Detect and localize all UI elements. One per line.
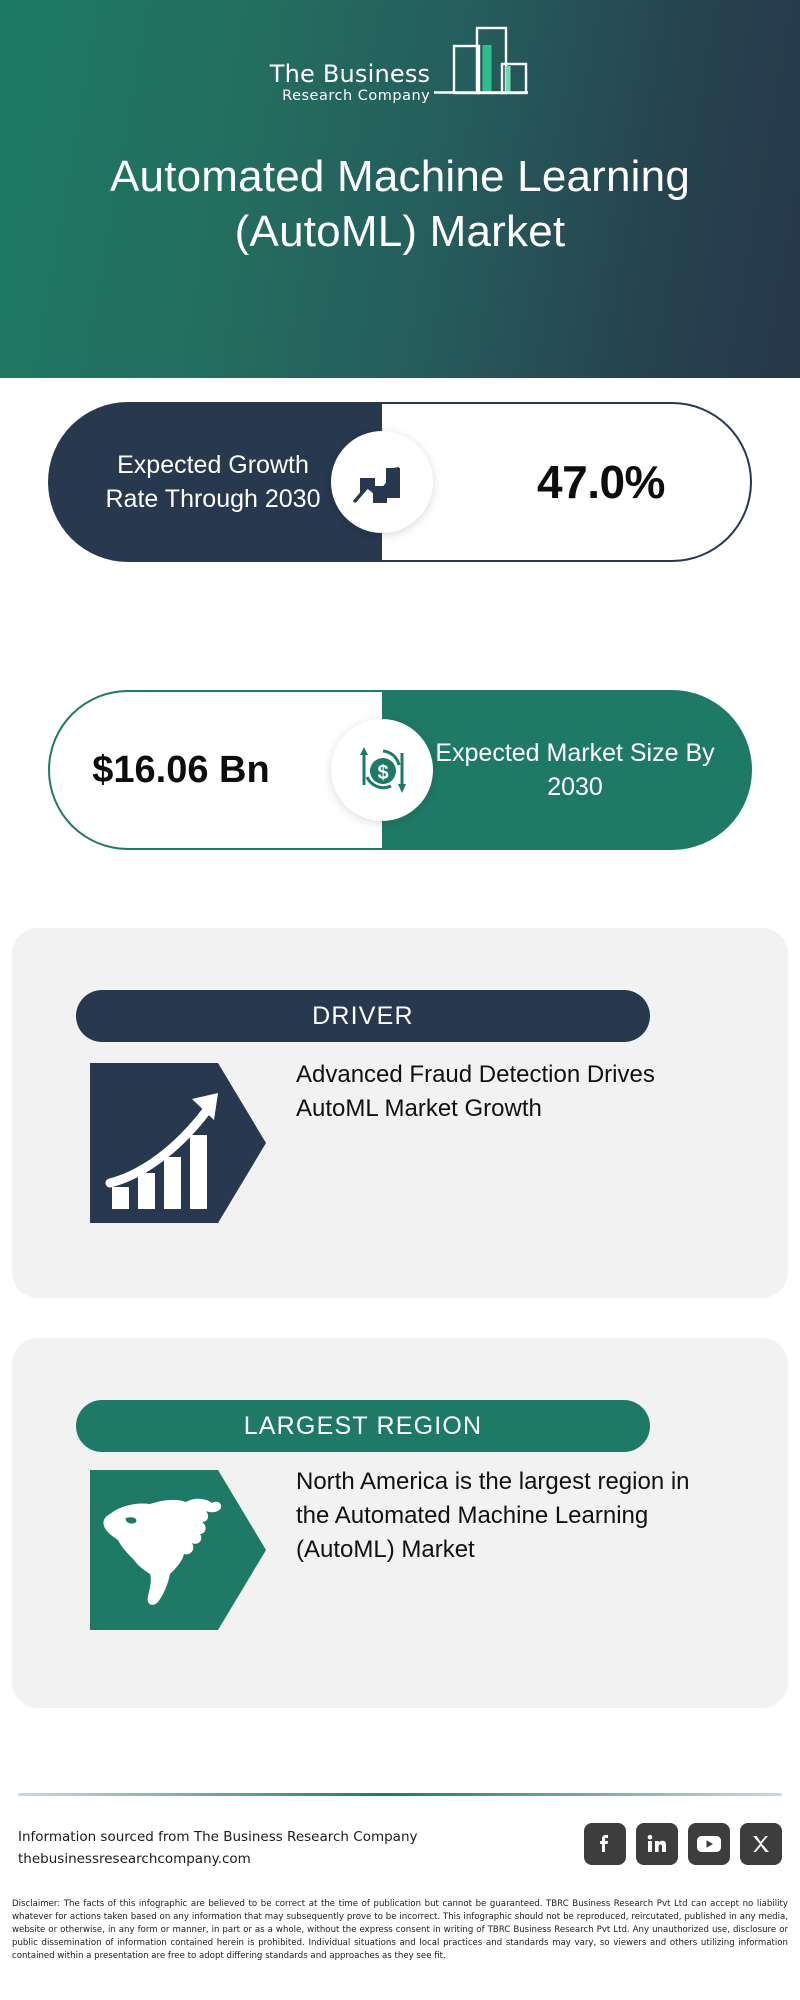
region-pill-label: LARGEST REGION <box>244 1412 483 1441</box>
footer-divider <box>18 1793 782 1796</box>
logo-text: The Business Research Company <box>270 62 431 108</box>
driver-pill-label: DRIVER <box>312 1002 414 1031</box>
x-twitter-icon[interactable] <box>740 1823 782 1865</box>
social-links <box>584 1823 782 1865</box>
stat-card-growth-rate: Expected Growth Rate Through 2030 47.0% <box>48 402 752 562</box>
north-america-map-icon <box>90 1470 266 1630</box>
stat-value-box: 47.0% <box>382 402 752 562</box>
rising-bar-chart-arrow-icon <box>90 1063 266 1223</box>
driver-text: Advanced Fraud Detection Drives AutoML M… <box>296 1058 696 1126</box>
stat-value: 47.0% <box>537 455 665 509</box>
dollar-refresh-icon: $ <box>331 719 433 821</box>
footer-source-url[interactable]: thebusinessresearchcompany.com <box>18 1848 488 1870</box>
page-title: Automated Machine Learning (AutoML) Mark… <box>0 150 800 259</box>
stat-label-box: Expected Market Size By 2030 <box>382 690 752 850</box>
company-logo: The Business Research Company <box>0 26 800 107</box>
stat-label: Expected Market Size By 2030 <box>434 736 716 804</box>
logo-line-2: Research Company <box>282 89 430 104</box>
region-pill: LARGEST REGION <box>76 1400 650 1452</box>
footer-source: Information sourced from The Business Re… <box>18 1826 488 1871</box>
growth-chart-icon <box>331 431 433 533</box>
disclaimer-text: Disclaimer: The facts of this infographi… <box>12 1898 788 1963</box>
bar-chart-logo-mark <box>432 26 530 105</box>
svg-text:$: $ <box>377 762 388 784</box>
facebook-icon[interactable] <box>584 1823 626 1865</box>
youtube-icon[interactable] <box>688 1823 730 1865</box>
region-text: North America is the largest region in t… <box>296 1465 696 1567</box>
linkedin-icon[interactable] <box>636 1823 678 1865</box>
stat-label: Expected Growth Rate Through 2030 <box>88 448 338 516</box>
footer-source-line-1: Information sourced from The Business Re… <box>18 1826 488 1848</box>
header-banner: The Business Research Company Automated … <box>0 0 800 378</box>
stat-value: $16.06 Bn <box>92 748 269 793</box>
logo-line-1: The Business <box>270 62 431 86</box>
driver-pill: DRIVER <box>76 990 650 1042</box>
stat-card-market-size: $16.06 Bn Expected Market Size By 2030 $ <box>48 690 752 850</box>
